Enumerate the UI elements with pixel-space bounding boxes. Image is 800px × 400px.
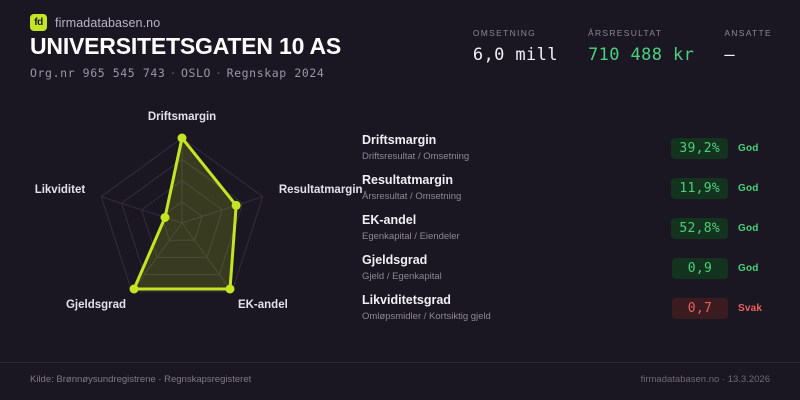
footer-stamp: firmadatabasen.no · 13.3.2026 [641, 374, 770, 385]
report-card: fd firmadatabasen.no UNIVERSITETSGATEN 1… [0, 0, 800, 400]
metric-text: Likviditetsgrad Omløpsmidler / Kortsikti… [362, 293, 672, 324]
radar-axis-label-ek-andel: EK-andel [238, 299, 288, 311]
metric-text: Driftsmargin Driftsresultat / Omsetning [362, 133, 671, 164]
metric-formula: Gjeld / Egenkapital [362, 270, 672, 284]
radar-svg [0, 92, 355, 352]
company-accounting-year: Regnskap 2024 [227, 66, 325, 80]
metric-value-badge: 52,8% [671, 218, 728, 239]
metric-name: EK-andel [362, 213, 671, 228]
status-badge: God [738, 263, 782, 274]
metric-value-badge: 0,9 [672, 258, 728, 279]
metric-formula: Egenkapital / Eiendeler [362, 230, 671, 244]
radar-point-likviditet [161, 213, 170, 222]
kpi-omsetning: OMSETNING 6,0 mill [473, 28, 558, 65]
metric-text: EK-andel Egenkapital / Eiendeler [362, 213, 671, 244]
status-badge: Svak [738, 303, 782, 314]
status-badge: God [738, 183, 782, 194]
metric-row-likviditetsgrad[interactable]: Likviditetsgrad Omløpsmidler / Kortsikti… [362, 288, 782, 328]
status-badge: God [738, 223, 782, 234]
kpi-ansatte-label: ANSATTE [724, 28, 772, 38]
kpi-omsetning-value: 6,0 mill [473, 45, 558, 65]
radar-axis-label-resultatmargin: Resultatmargin [279, 184, 363, 196]
header: fd firmadatabasen.no UNIVERSITETSGATEN 1… [0, 0, 800, 92]
metric-row-resultatmargin[interactable]: Resultatmargin Årsresultat / Omsetning 1… [362, 168, 782, 208]
metric-name: Gjeldsgrad [362, 253, 672, 268]
footer-divider [0, 362, 800, 363]
kpi-omsetning-label: OMSETNING [473, 28, 558, 38]
kpi-strip: OMSETNING 6,0 mill ÅRSRESULTAT 710 488 k… [473, 28, 772, 65]
metric-formula: Driftsresultat / Omsetning [362, 150, 671, 164]
meta-separator-2: · [211, 66, 227, 80]
footer-source: Kilde: Brønnøysundregistrene · Regnskaps… [30, 374, 251, 385]
metric-row-gjeldsgrad[interactable]: Gjeldsgrad Gjeld / Egenkapital 0,9 God [362, 248, 782, 288]
metric-value-badge: 0,7 [672, 298, 728, 319]
radar-point-driftsmargin [178, 134, 187, 143]
metric-text: Resultatmargin Årsresultat / Omsetning [362, 173, 671, 204]
metric-text: Gjeldsgrad Gjeld / Egenkapital [362, 253, 672, 284]
brand-name: firmadatabasen.no [55, 16, 160, 30]
page-title: UNIVERSITETSGATEN 10 AS [30, 33, 341, 60]
status-badge: God [738, 143, 782, 154]
radar-axis-label-likviditet: Likviditet [35, 184, 85, 196]
kpi-arsresultat-label: ÅRSRESULTAT [588, 28, 694, 38]
metrics-list: Driftsmargin Driftsresultat / Omsetning … [362, 128, 782, 328]
company-meta: Org.nr 965 545 743·OSLO·Regnskap 2024 [30, 66, 324, 80]
radar-series-area [134, 138, 236, 289]
meta-separator-1: · [165, 66, 181, 80]
kpi-ansatte-value: – [724, 45, 772, 65]
radar-point-ek-andel [226, 285, 235, 294]
metric-row-ek-andel[interactable]: EK-andel Egenkapital / Eiendeler 52,8% G… [362, 208, 782, 248]
metric-formula: Årsresultat / Omsetning [362, 190, 671, 204]
kpi-ansatte: ANSATTE – [724, 28, 772, 65]
kpi-arsresultat: ÅRSRESULTAT 710 488 kr [588, 28, 694, 65]
radar-axis-label-gjeldsgrad: Gjeldsgrad [66, 299, 126, 311]
company-orgnr: Org.nr 965 545 743 [30, 66, 165, 80]
brand[interactable]: fd firmadatabasen.no [30, 14, 160, 31]
radar-point-resultatmargin [232, 201, 241, 210]
metric-value-badge: 39,2% [671, 138, 728, 159]
company-city: OSLO [181, 66, 211, 80]
kpi-arsresultat-value: 710 488 kr [588, 45, 694, 65]
radar-axis-label-driftsmargin: Driftsmargin [0, 111, 364, 123]
metric-name: Resultatmargin [362, 173, 671, 188]
metric-row-driftsmargin[interactable]: Driftsmargin Driftsresultat / Omsetning … [362, 128, 782, 168]
metric-formula: Omløpsmidler / Kortsiktig gjeld [362, 310, 672, 324]
metric-name: Likviditetsgrad [362, 293, 672, 308]
metric-name: Driftsmargin [362, 133, 671, 148]
radar-point-gjeldsgrad [130, 285, 139, 294]
metric-value-badge: 11,9% [671, 178, 728, 199]
firmadatabasen-logo-icon: fd [30, 14, 47, 31]
radar-chart: Driftsmargin Resultatmargin EK-andel Gje… [0, 92, 355, 352]
